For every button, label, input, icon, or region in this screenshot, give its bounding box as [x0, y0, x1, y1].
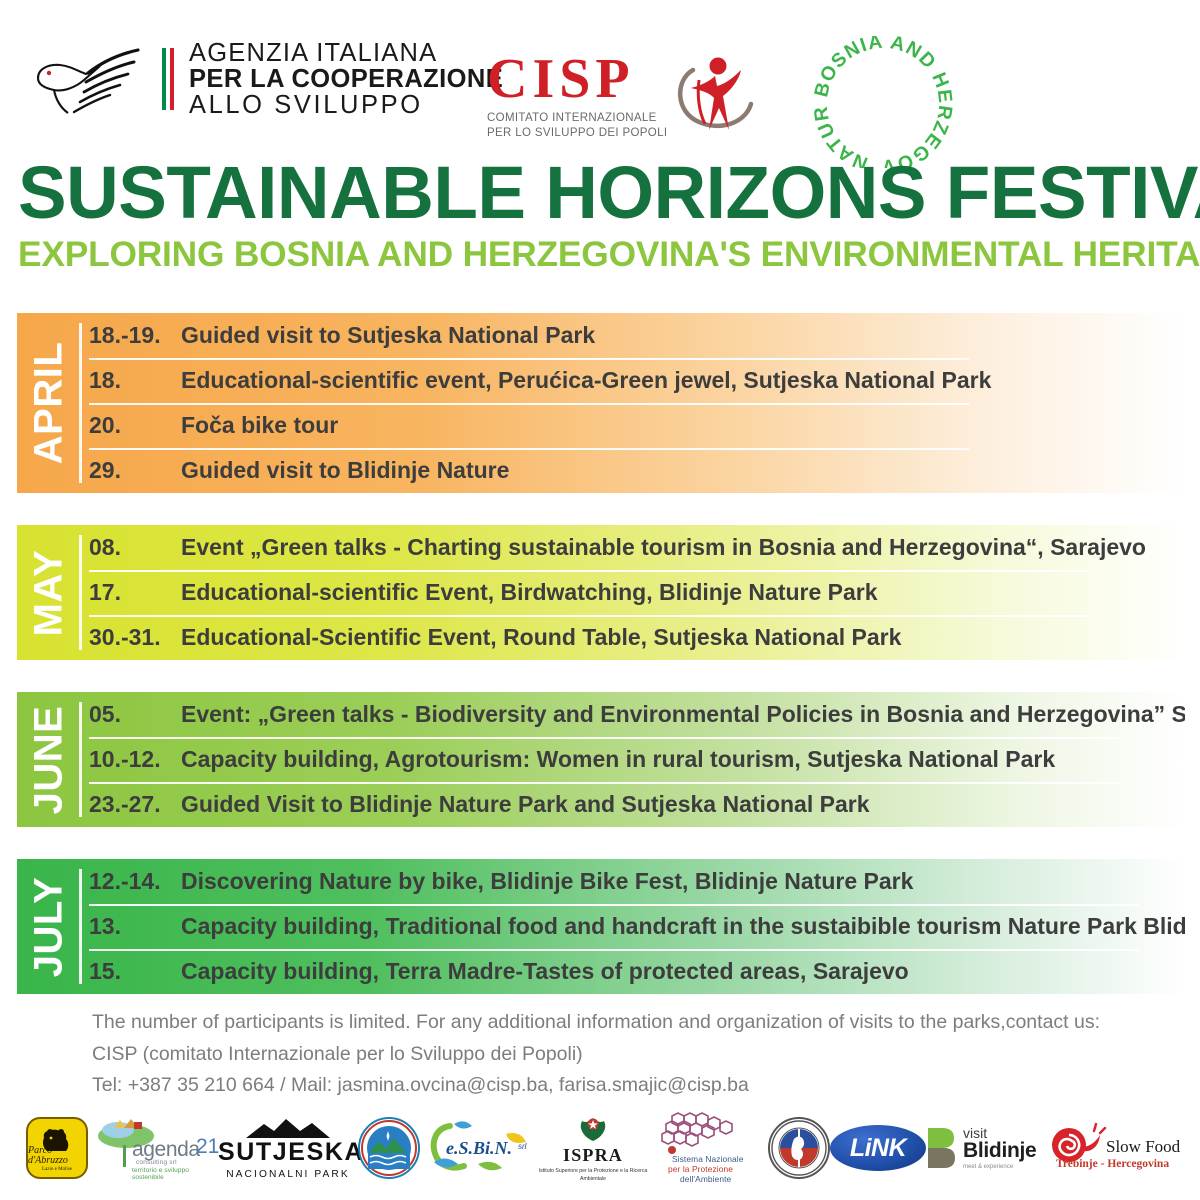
event-date: 23.-27. [89, 791, 181, 818]
cisp-subtitle-line-2: PER LO SVILUPPO DEI POPOLI [487, 126, 667, 141]
event-date: 18. [89, 367, 181, 394]
event-text: Capacity building, Agrotourism: Women in… [181, 746, 1055, 773]
month-label-june: JUNE [17, 692, 79, 827]
logo-sutjeska-nacionalni-park: SUTJESKA NACIONALNI PARK [218, 1117, 358, 1180]
schedule-row: 23.-27. Guided Visit to Blidinje Nature … [89, 782, 1185, 827]
partner-subtitle: Trebinje - Hercegovina [1056, 1158, 1169, 1170]
event-date: 18.-19. [89, 322, 181, 349]
svg-text:NATUR BOSNIA AND HERZEGOVINA: NATUR BOSNIA AND HERZEGOVINA [798, 36, 956, 168]
month-block-april: APRIL 18.-19. Guided visit to Sutjeska N… [17, 313, 1185, 493]
month-name-july: JULY [28, 876, 68, 977]
logo-natur-bosnia-herzegovina: NATUR BOSNIA AND HERZEGOVINA [798, 36, 968, 168]
schedule-row: 29. Guided visit to Blidinje Nature [89, 448, 1185, 493]
logo-aics: AGENZIA ITALIANA PER LA COOPERAZIONE ALL… [30, 40, 503, 118]
event-text: Foča bike tour [181, 412, 338, 439]
logo-park-prirode-blidinje [358, 1117, 420, 1179]
partner-suffix: srl [518, 1142, 526, 1151]
event-date: 29. [89, 457, 181, 484]
partner-sub-1: consulting srl [136, 1159, 177, 1166]
event-date: 10.-12. [89, 746, 181, 773]
event-text: Educational-scientific event, Perućica-G… [181, 367, 991, 394]
event-date: 20. [89, 412, 181, 439]
month-divider [79, 535, 82, 650]
logo-esbin: e.S.Bi.N. srl [420, 1116, 538, 1180]
aics-wordmark: AGENZIA ITALIANA PER LA COOPERAZIONE ALL… [189, 40, 503, 118]
logo-slow-food: Slow Food Trebinje - Hercegovina [1044, 1117, 1184, 1179]
month-divider [79, 323, 82, 483]
event-text: Capacity building, Traditional food and … [181, 913, 1185, 940]
partner-title: SUTJESKA [218, 1140, 358, 1165]
logo-visit-blidinje: visit Blidinje meet & experience [926, 1117, 1044, 1179]
contact-note-line-1: The number of participants is limited. F… [92, 1007, 1162, 1039]
page-title: SUSTAINABLE HORIZONS FESTIVAL [18, 158, 1166, 228]
partner-tagline: meet & experience [963, 1164, 1036, 1170]
schedule-row: 05. Event: „Green talks - Biodiversity a… [89, 692, 1185, 737]
event-text: Discovering Nature by bike, Blidinje Bik… [181, 868, 913, 895]
partner-subtitle: NACIONALNI PARK [218, 1169, 358, 1180]
partner-title: e.S.Bi.N. [446, 1138, 512, 1159]
event-date: 17. [89, 579, 181, 606]
partner-title: Slow Food [1106, 1137, 1180, 1157]
schedule-row: 13. Capacity building, Traditional food … [89, 904, 1185, 949]
aics-line-2: PER LA COOPERAZIONE [189, 66, 503, 92]
month-label-july: JULY [17, 859, 79, 994]
cisp-acronym: CISP [487, 52, 667, 107]
event-text: Guided visit to Sutjeska National Park [181, 322, 595, 349]
partner-title: ISPRA [538, 1145, 648, 1166]
logo-link: LiNK [830, 1125, 926, 1171]
aics-line-1: AGENZIA ITALIANA [189, 40, 503, 66]
event-date: 15. [89, 958, 181, 985]
header-logo-bar: AGENZIA ITALIANA PER LA COOPERAZIONE ALL… [0, 22, 1200, 147]
italian-flag-icon [162, 48, 175, 110]
schedule-row: 08. Event „Green talks - Charting sustai… [89, 525, 1185, 570]
poster-title-block: SUSTAINABLE HORIZONS FESTIVAL EXPLORING … [18, 158, 1183, 273]
event-text: Guided Visit to Blidinje Nature Park and… [181, 791, 869, 818]
aics-line-3: ALLO SVILUPPO [189, 92, 503, 118]
bear-icon [40, 1126, 74, 1161]
logo-parco-abruzzo: Parco d'Abruzzo Lazio e Molise [26, 1117, 88, 1179]
partner-subtitle: Istituto Superiore per la Protezione e l… [538, 1168, 648, 1183]
contact-note: The number of participants is limited. F… [92, 1007, 1162, 1102]
logo-ispra: ISPRA Istituto Superiore per la Protezio… [538, 1113, 648, 1183]
contact-note-line-3: Tel: +387 35 210 664 / Mail: jasmina.ovc… [92, 1070, 1162, 1102]
schedule-list: APRIL 18.-19. Guided visit to Sutjeska N… [17, 313, 1185, 994]
logo-agenda-21: agenda 21 consulting srl territorio e sv… [88, 1112, 218, 1184]
cisp-subtitle-line-1: COMITATO INTERNAZIONALE [487, 111, 667, 126]
schedule-row: 12.-14. Discovering Nature by bike, Blid… [89, 859, 1185, 904]
dove-icon [30, 40, 148, 118]
event-text: Educational-scientific Event, Birdwatchi… [181, 579, 878, 606]
month-name-april: APRIL [28, 342, 68, 465]
month-name-may: MAY [28, 549, 68, 636]
event-date: 13. [89, 913, 181, 940]
partner-line-1: Sistema Nazionale [672, 1154, 744, 1164]
event-text: Capacity building, Terra Madre-Tastes of… [181, 958, 909, 985]
logo-cisp: CISP COMITATO INTERNAZIONALE PER LO SVIL… [487, 52, 757, 142]
schedule-row: 10.-12. Capacity building, Agrotourism: … [89, 737, 1185, 782]
blidinje-b-icon [926, 1126, 956, 1170]
schedule-row: 20. Foča bike tour [89, 403, 1185, 448]
event-text: Event „Green talks - Charting sustainabl… [181, 534, 1146, 561]
schedule-row: 17. Educational-scientific Event, Birdwa… [89, 570, 1185, 615]
logo-university-seal [768, 1117, 830, 1179]
partner-sub-2: territorio e sviluppo sostenibile [132, 1167, 218, 1181]
partner-number: 21 [196, 1135, 219, 1159]
month-block-july: JULY 12.-14. Discovering Nature by bike,… [17, 859, 1185, 994]
schedule-row: 18. Educational-scientific event, Perući… [89, 358, 1185, 403]
schedule-row: 15. Capacity building, Terra Madre-Taste… [89, 949, 1185, 994]
schedule-row: 30.-31. Educational-Scientific Event, Ro… [89, 615, 1185, 660]
partner-subtitle: Lazio e Molise [42, 1167, 72, 1173]
event-date: 08. [89, 534, 181, 561]
festival-poster: AGENZIA ITALIANA PER LA COOPERAZIONE ALL… [0, 0, 1200, 1200]
month-label-may: MAY [17, 525, 79, 660]
partner-line-2: per la Protezione [668, 1164, 733, 1174]
person-circle-icon [669, 46, 757, 142]
month-divider [79, 702, 82, 817]
month-name-june: JUNE [28, 705, 68, 814]
event-text: Educational-Scientific Event, Round Tabl… [181, 624, 901, 651]
month-label-april: APRIL [17, 313, 79, 493]
logo-sistema-nazionale-protezione-ambiente: Sistema Nazionale per la Protezione dell… [648, 1112, 768, 1184]
month-block-may: MAY 08. Event „Green talks - Charting su… [17, 525, 1185, 660]
partner-logo-bar: Parco d'Abruzzo Lazio e Molise agenda 21… [0, 1098, 1200, 1198]
month-divider [79, 869, 82, 984]
contact-note-line-2: CISP (comitato Internazionale per lo Svi… [92, 1039, 1162, 1071]
partner-line-3: dell'Ambiente [680, 1174, 731, 1184]
schedule-row: 18.-19. Guided visit to Sutjeska Nationa… [89, 313, 1185, 358]
event-date: 05. [89, 701, 181, 728]
partner-title: LiNK [850, 1134, 906, 1163]
event-text: Event: „Green talks - Biodiversity and E… [181, 701, 1185, 728]
event-text: Guided visit to Blidinje Nature [181, 457, 509, 484]
partner-pre: visit [963, 1126, 1036, 1140]
event-date: 30.-31. [89, 624, 181, 651]
partner-title: Blidinje [963, 1140, 1036, 1161]
month-block-june: JUNE 05. Event: „Green talks - Biodivers… [17, 692, 1185, 827]
page-subtitle: EXPLORING BOSNIA AND HERZEGOVINA'S ENVIR… [18, 237, 1177, 273]
event-date: 12.-14. [89, 868, 181, 895]
